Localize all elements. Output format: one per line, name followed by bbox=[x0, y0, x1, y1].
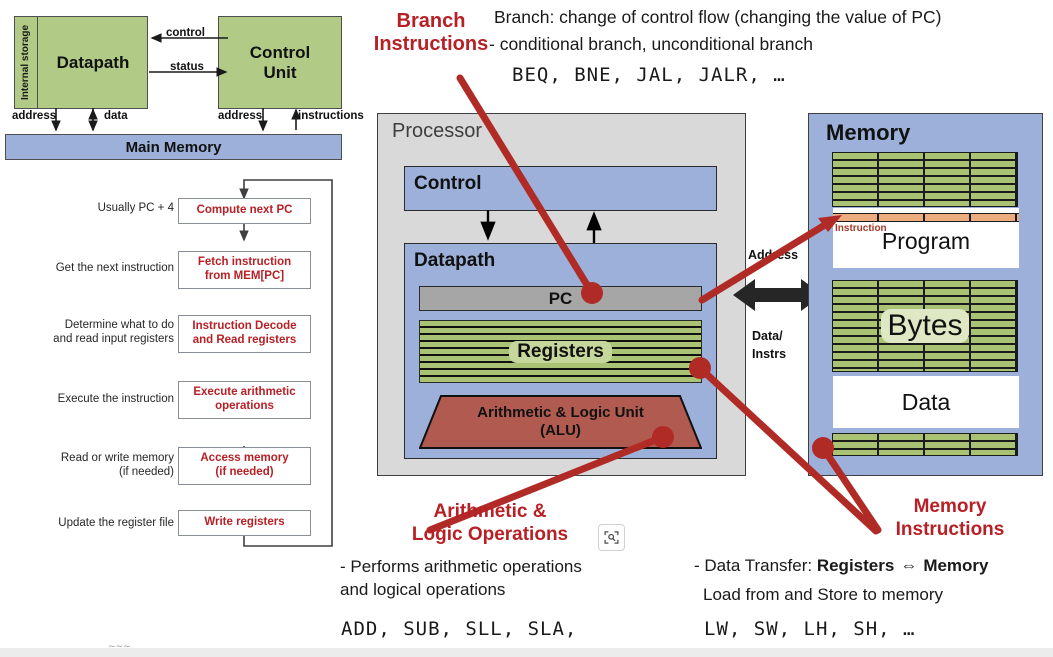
control-unit-label-line1: Control bbox=[250, 43, 310, 62]
control-datapath-arrows bbox=[470, 210, 650, 246]
branch-instructions-callout: Branch Instructions bbox=[372, 10, 490, 56]
data-label: data bbox=[104, 110, 128, 122]
branch-callout-line1: Branch bbox=[372, 10, 490, 33]
memory-instruction-row[interactable] bbox=[833, 213, 1019, 222]
memory-data-label: Data bbox=[832, 375, 1020, 429]
flow-step-instruction-decode[interactable]: Instruction Decode and Read registers bbox=[178, 315, 311, 353]
main-memory-block: Main Memory bbox=[5, 134, 342, 160]
memory-description-memory: Memory bbox=[923, 556, 988, 575]
flow-step-2-line1: Fetch instruction bbox=[198, 256, 291, 270]
flow-step-fetch-instruction[interactable]: Fetch instruction from MEM[PC] bbox=[178, 251, 311, 289]
flow-caption-4: Execute the instruction bbox=[22, 392, 174, 406]
instructions-label: instructions bbox=[298, 110, 364, 122]
alu-callout-line2: Logic Operations bbox=[370, 523, 610, 546]
memory-grid-top bbox=[832, 152, 1018, 207]
alu-description: - Performs arithmetic operations and log… bbox=[340, 556, 680, 602]
memory-title: Memory bbox=[826, 120, 910, 146]
control-block-label: Control bbox=[414, 173, 482, 195]
flow-step-3-line1: Instruction Decode bbox=[192, 320, 296, 334]
flow-step-4-line2: operations bbox=[215, 400, 274, 414]
flow-step-compute-next-pc[interactable]: Compute next PC bbox=[178, 198, 311, 224]
memory-mnemonics: LW, SW, LH, SH, … bbox=[704, 618, 915, 640]
branch-description-line1: Branch: change of control flow (changing… bbox=[494, 7, 941, 28]
bottom-watermark: ∼∼∼ bbox=[108, 641, 136, 648]
flow-step-access-memory[interactable]: Access memory (if needed) bbox=[178, 447, 311, 485]
data-bus-label-line2: Instrs bbox=[752, 345, 786, 363]
flow-caption-3-line2: and read input registers bbox=[10, 332, 174, 346]
flow-caption-3-line1: Determine what to do bbox=[10, 318, 174, 332]
branch-callout-line2: Instructions bbox=[372, 33, 490, 56]
flow-caption-5: Read or write memory (if needed) bbox=[18, 451, 174, 480]
address-label-right: address bbox=[218, 110, 262, 122]
memory-bytes-label: Bytes bbox=[832, 280, 1018, 372]
bottom-strip bbox=[0, 648, 1053, 657]
flow-caption-6: Update the register file bbox=[14, 516, 174, 530]
flow-step-6-line1: Write registers bbox=[204, 516, 284, 530]
datapath-label: Datapath bbox=[38, 16, 148, 109]
memory-callout-line2: Instructions bbox=[860, 518, 1040, 541]
branch-description-line2: - conditional branch, unconditional bran… bbox=[489, 34, 813, 55]
alu-description-line2: and logical operations bbox=[340, 579, 680, 602]
flow-step-3-line2: and Read registers bbox=[193, 334, 297, 348]
flow-step-execute-arithmetic[interactable]: Execute arithmetic operations bbox=[178, 381, 311, 419]
alu-label-line1: Arithmetic & Logic Unit bbox=[477, 404, 644, 422]
flow-step-5-line2: (if needed) bbox=[215, 466, 273, 480]
memory-description-prefix: - Data Transfer: bbox=[694, 556, 817, 575]
registers-label-text: Registers bbox=[509, 341, 612, 363]
data-bus-label: Data/ Instrs bbox=[752, 327, 786, 363]
alu-description-line1: - Performs arithmetic operations bbox=[340, 556, 680, 579]
address-label-left: address bbox=[12, 110, 56, 122]
memory-instructions-callout: Memory Instructions bbox=[860, 495, 1040, 541]
control-unit-label-line2: Unit bbox=[263, 63, 296, 82]
memory-bytes-text: Bytes bbox=[881, 309, 968, 343]
control-unit-block: Control Unit bbox=[218, 16, 342, 109]
alu-mnemonics: ADD, SUB, SLL, SLA, bbox=[341, 618, 577, 640]
bidirectional-arrow-icon: ⇔ bbox=[894, 556, 923, 575]
datapath-block-label: Datapath bbox=[414, 250, 495, 272]
internal-storage-label: Internal storage bbox=[20, 25, 31, 100]
processor-title: Processor bbox=[392, 120, 482, 143]
memory-description-registers: Registers bbox=[817, 556, 894, 575]
flow-step-5-line1: Access memory bbox=[200, 452, 288, 466]
flow-caption-2: Get the next instruction bbox=[14, 261, 174, 275]
flowchart-loop-arrow bbox=[172, 176, 342, 556]
flow-step-2-line2: from MEM[PC] bbox=[205, 270, 284, 284]
flow-caption-5-line1: Read or write memory bbox=[18, 451, 174, 465]
alu-operations-callout: Arithmetic & Logic Operations bbox=[370, 500, 610, 546]
alu-callout-line1: Arithmetic & bbox=[370, 500, 610, 523]
registers-label: Registers bbox=[419, 320, 702, 383]
address-bus-label: Address bbox=[748, 248, 798, 262]
scan-zoom-button[interactable] bbox=[598, 524, 625, 551]
flow-caption-3: Determine what to do and read input regi… bbox=[10, 318, 174, 347]
branch-mnemonics: BEQ, BNE, JAL, JALR, … bbox=[512, 64, 786, 86]
flow-step-1-line1: Compute next PC bbox=[197, 204, 293, 218]
flow-step-4-line1: Execute arithmetic bbox=[193, 386, 295, 400]
memory-callout-line1: Memory bbox=[860, 495, 1040, 518]
scan-zoom-icon bbox=[603, 529, 620, 546]
internal-storage-strip: Internal storage bbox=[14, 16, 38, 109]
memory-description-line2: Load from and Store to memory bbox=[703, 585, 943, 605]
alu-label: Arithmetic & Logic Unit (ALU) bbox=[419, 395, 702, 449]
memory-description-line1: - Data Transfer: Registers⇔Memory bbox=[694, 556, 989, 576]
flow-caption-1: Usually PC + 4 bbox=[30, 201, 174, 215]
alu-label-line2: (ALU) bbox=[540, 422, 581, 440]
data-bus-label-line1: Data/ bbox=[752, 327, 786, 345]
flow-step-write-registers[interactable]: Write registers bbox=[178, 510, 311, 536]
memory-grid-bottom bbox=[832, 433, 1018, 456]
flow-caption-5-line2: (if needed) bbox=[18, 465, 174, 479]
slide-canvas: Internal storage Datapath Control Unit M… bbox=[0, 0, 1053, 657]
pc-register[interactable]: PC bbox=[419, 286, 702, 311]
control-arrow-label: control bbox=[166, 27, 205, 39]
memory-program-label: Program bbox=[832, 228, 1020, 255]
status-arrow-label: status bbox=[170, 61, 204, 73]
